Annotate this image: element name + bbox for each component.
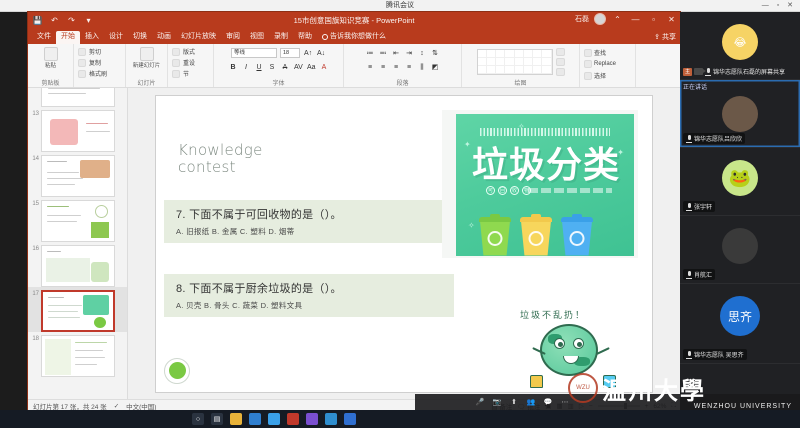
thumbnail-preview[interactable] xyxy=(41,200,115,242)
select-label: 选择 xyxy=(594,71,606,80)
participant-name: 锦华志愿队吕欣欣 xyxy=(694,134,742,143)
paragraph-row-1[interactable]: ≔ ≕ ⇤ ⇥ ↕ ⇅ xyxy=(365,48,440,58)
replace-label: Replace xyxy=(594,61,616,67)
paste-button[interactable]: 粘贴 xyxy=(41,47,61,69)
participant-tile-4[interactable]: 思齐 锦华志愿队 吴思齐 xyxy=(680,284,800,364)
close-button[interactable]: ✕ xyxy=(665,15,678,24)
university-seal-icon: WZU xyxy=(568,373,598,403)
search-icon xyxy=(584,49,592,57)
minimize-button[interactable]: — xyxy=(629,15,642,24)
ribbon-group-clipboard-cmds: 剪切 复制 格式刷 xyxy=(74,44,126,87)
poster-title: 垃圾分类 xyxy=(466,136,626,188)
heading-line-1: Knowledge xyxy=(178,142,263,159)
drawing-group-label: 绘图 xyxy=(462,78,579,87)
justify-icon[interactable]: ≡ xyxy=(404,62,414,72)
bin-kitchen xyxy=(519,214,553,256)
avatar: 思齐 xyxy=(720,296,760,336)
participant-1-name-chip: 锦华志愿队吕欣欣 xyxy=(683,133,745,144)
align-left-icon[interactable]: ≡ xyxy=(365,62,375,72)
select-icon xyxy=(584,72,592,80)
watermark-chinese: 温州大學 xyxy=(602,371,706,406)
font-name-input[interactable]: 等线 xyxy=(231,48,277,58)
ribbon-group-drawing: 绘图 xyxy=(462,44,580,87)
chip-1: 可 xyxy=(486,186,495,195)
shapes-gallery[interactable] xyxy=(477,48,565,76)
paragraph-row-2[interactable]: ≡ ≡ ≡ ≡ ⫼ ◩ xyxy=(365,62,440,72)
shape-fill-icon[interactable] xyxy=(556,68,565,76)
ppt-titlebar-right: 石磊 ⌃ — ▫ ✕ xyxy=(575,13,678,25)
avatar xyxy=(722,96,758,132)
slide-heading: Knowledge contest xyxy=(178,142,263,176)
tab-transitions[interactable]: 切换 xyxy=(128,31,152,44)
participant-name: 锦华志愿队石磊的屏幕共享 xyxy=(713,67,785,76)
poster-image[interactable]: ✦ ✧ ✦ ✧ 垃圾分类 可 回 收 物 xyxy=(442,110,638,258)
ribbon-group-paragraph: ≔ ≕ ⇤ ⇥ ↕ ⇅ ≡ ≡ ≡ ≡ ⫼ ◩ 段落 xyxy=(344,44,462,87)
section-icon xyxy=(172,70,180,78)
bin-other xyxy=(560,214,594,256)
font-row-2[interactable]: B I U S A AV Aa A xyxy=(228,62,329,72)
ribbon-group-slides-cmds: 版式 重设 节 xyxy=(168,44,214,87)
mail-icon[interactable] xyxy=(268,413,280,425)
participant-tile-0[interactable]: 😂 主 锦华志愿队石磊的屏幕共享 xyxy=(680,12,800,80)
thumbnail-14[interactable]: 14 xyxy=(28,152,127,197)
reset-row[interactable]: 重设 xyxy=(172,58,195,67)
decrease-indent-icon[interactable]: ⇤ xyxy=(391,48,401,58)
increase-indent-icon[interactable]: ⇥ xyxy=(404,48,414,58)
thumbnail-preview[interactable] xyxy=(41,335,115,377)
cut-row[interactable]: 剪切 xyxy=(78,47,101,56)
character-spacing-icon[interactable]: AV xyxy=(293,62,303,72)
mic-muted-icon xyxy=(686,135,692,143)
ribbon-group-editing: 查找 Replace 选择 xyxy=(580,44,636,87)
chip-2: 回 xyxy=(498,186,507,195)
meeting-window-controls[interactable]: — ▫ ✕ xyxy=(762,0,796,12)
reset-label: 重设 xyxy=(183,58,195,67)
copy-row[interactable]: 复制 xyxy=(78,58,101,67)
ribbon-tabs[interactable]: 文件 开始 插入 设计 切换 动画 幻灯片放映 审阅 视图 录制 帮助 告诉我你… xyxy=(28,30,680,44)
ppt-body: 12 13 xyxy=(28,88,680,399)
align-right-icon[interactable]: ≡ xyxy=(391,62,401,72)
paste-icon xyxy=(44,47,58,61)
find-label: 查找 xyxy=(594,48,606,57)
participant-tile-1[interactable]: 正在讲话 锦华志愿队吕欣欣 xyxy=(680,80,800,148)
thumbnail-preview-selected[interactable] xyxy=(41,290,115,332)
numbering-icon[interactable]: ≕ xyxy=(378,48,388,58)
select-row[interactable]: 选择 xyxy=(584,71,606,80)
members-icon[interactable]: 👥 xyxy=(526,397,536,407)
participant-2-name-chip: 张宇轩 xyxy=(683,201,715,212)
participant-tile-2[interactable]: 🐸 张宇轩 xyxy=(680,148,800,216)
new-slide-icon xyxy=(140,47,154,61)
cartoon-bin-yellow xyxy=(530,375,543,388)
sparkle-icon: ✧ xyxy=(518,122,525,131)
logo-circle xyxy=(169,362,186,379)
mic-muted-icon xyxy=(686,351,692,359)
thumbnail-16[interactable]: 16 xyxy=(28,242,127,287)
camera-icon xyxy=(694,68,703,75)
ppt-user-name[interactable]: 石磊 xyxy=(575,14,589,24)
slides-group-label: 幻灯片 xyxy=(126,78,167,87)
align-center-icon[interactable]: ≡ xyxy=(378,62,388,72)
tell-me-label: 告诉我你想做什么 xyxy=(330,32,386,42)
thumbnail-number: 16 xyxy=(30,245,39,252)
layout-label: 版式 xyxy=(183,47,195,56)
participant-name: 锦华志愿队 吴思齐 xyxy=(694,350,744,359)
increase-font-icon[interactable]: A↑ xyxy=(303,48,313,58)
replace-row[interactable]: Replace xyxy=(584,60,616,68)
section-label: 节 xyxy=(183,69,189,78)
pdf-icon[interactable] xyxy=(287,413,299,425)
thumbnail-number: 17 xyxy=(30,290,39,297)
screen-root: 腾讯会议 — ▫ ✕ 💾 ↶ ↷ ▾ 15市创意国旗知识竞赛 - PowerPo… xyxy=(0,0,800,428)
poster-card: ✦ ✧ ✦ ✧ 垃圾分类 可 回 收 物 xyxy=(456,114,634,256)
eye-right xyxy=(573,338,584,349)
participant-name: 张宇轩 xyxy=(694,202,712,211)
avatar: 🐸 xyxy=(722,160,758,196)
slide-counter: 幻灯片第 17 张，共 24 张 xyxy=(33,401,107,410)
cartoon-caption: 垃圾不乱扔！ xyxy=(520,308,586,321)
ribbon-group-clipboard: 粘贴 剪贴板 xyxy=(28,44,74,87)
tab-animations[interactable]: 动画 xyxy=(152,31,176,44)
onenote-icon[interactable] xyxy=(306,413,318,425)
tab-file[interactable]: 文件 xyxy=(32,31,56,44)
ribbon: 粘贴 剪贴板 剪切 复制 格式刷 xyxy=(28,44,680,88)
strikethrough-icon[interactable]: A xyxy=(280,62,290,72)
avatar: 😂 xyxy=(722,24,758,60)
text-direction-icon[interactable]: ⇅ xyxy=(430,48,440,58)
question-8-options: A. 贝壳 B. 骨头 C. 蔬菜 D. 塑料文具 xyxy=(164,298,454,317)
ppt-user-avatar[interactable] xyxy=(594,13,606,25)
reset-icon xyxy=(172,59,180,67)
taskbar-icons[interactable]: ○ ▤ xyxy=(192,413,356,425)
ppt-titlebar: 💾 ↶ ↷ ▾ 15市创意国旗知识竞赛 - PowerPoint 石磊 ⌃ — … xyxy=(28,12,680,30)
participants-rail[interactable]: 😂 主 锦华志愿队石磊的屏幕共享 正在讲话 锦华志愿队吕欣欣 🐸 xyxy=(680,12,800,410)
participant-3-name-chip: 肖航汇 xyxy=(683,269,715,280)
thumbnail-preview[interactable] xyxy=(41,155,115,197)
cut-label: 剪切 xyxy=(89,47,101,56)
thumbnail-18[interactable]: 18 xyxy=(28,332,127,377)
thumbnail-15[interactable]: 15 xyxy=(28,197,127,242)
mic-muted-icon xyxy=(686,271,692,279)
mic-icon[interactable]: 🎤 xyxy=(475,397,485,407)
thumbnail-number: 14 xyxy=(30,155,39,162)
thumbnail-17[interactable]: 17 xyxy=(28,287,127,332)
slide-logo-badge xyxy=(164,358,190,384)
avatar-initials: 思齐 xyxy=(728,308,752,325)
cut-icon xyxy=(78,48,86,56)
camera-icon[interactable]: 📷 xyxy=(492,397,502,407)
format-painter-icon xyxy=(78,70,86,78)
paste-label: 粘贴 xyxy=(45,61,56,69)
tab-insert[interactable]: 插入 xyxy=(80,31,104,44)
spellcheck-icon[interactable]: ✓ xyxy=(114,402,119,410)
arrange-icon[interactable] xyxy=(556,48,565,56)
convert-smartart-icon[interactable]: ◩ xyxy=(430,62,440,72)
meeting-titlebar: 腾讯会议 — ▫ ✕ xyxy=(0,0,800,12)
section-row[interactable]: 节 xyxy=(172,69,189,78)
avatar xyxy=(722,228,758,264)
question-7-options: A. 旧报纸 B. 金属 C. 塑料 D. 烟蒂 xyxy=(164,224,454,243)
explorer-icon[interactable] xyxy=(230,413,242,425)
taskview-icon[interactable]: ▤ xyxy=(211,413,223,425)
format-painter-row[interactable]: 格式刷 xyxy=(78,69,107,78)
question-8-text: 8. 下面不属于厨余垃圾的是（）。 xyxy=(164,274,454,298)
thumbnail-preview[interactable] xyxy=(41,110,115,152)
italic-icon[interactable]: I xyxy=(241,62,251,72)
copy-icon xyxy=(78,59,86,67)
thumbnail-number: 18 xyxy=(30,335,39,342)
font-color-icon[interactable]: A xyxy=(319,62,329,72)
windows-taskbar[interactable]: ○ ▤ xyxy=(0,410,800,428)
thumbnail-number: 15 xyxy=(30,200,39,207)
tab-home[interactable]: 开始 xyxy=(56,31,80,44)
replace-icon xyxy=(584,60,592,68)
question-8-block[interactable]: 8. 下面不属于厨余垃圾的是（）。 A. 贝壳 B. 骨头 C. 蔬菜 D. 塑… xyxy=(164,274,454,317)
paragraph-group-label: 段落 xyxy=(344,78,461,87)
shapes-box[interactable] xyxy=(477,49,553,75)
thumbnail-number: 13 xyxy=(30,110,39,117)
speaking-indicator: 正在讲话 xyxy=(683,82,707,91)
line-spacing-icon[interactable]: ↕ xyxy=(417,48,427,58)
tab-view[interactable]: 视图 xyxy=(245,31,269,44)
watermark-english: WENZHOU UNIVERSITY xyxy=(694,403,792,410)
avatar-emoji: 😂 xyxy=(734,36,747,49)
bold-icon[interactable]: B xyxy=(228,62,238,72)
poster-dot-ornament xyxy=(480,128,610,136)
copy-label: 复制 xyxy=(89,58,101,67)
share-button[interactable]: ⇪ 共享 xyxy=(654,32,676,42)
ribbon-display-options-icon[interactable]: ⌃ xyxy=(611,15,624,24)
format-painter-label: 格式刷 xyxy=(89,69,107,78)
change-case-icon[interactable]: Aa xyxy=(306,62,316,72)
meeting-title: 腾讯会议 xyxy=(386,2,414,9)
thumbnail-preview[interactable] xyxy=(41,88,115,107)
tab-slideshow[interactable]: 幻灯片放映 xyxy=(176,31,221,44)
thumbnail-13[interactable]: 13 xyxy=(28,107,127,152)
meeting-icon[interactable] xyxy=(344,413,356,425)
university-watermark: WZU 温州大學 WENZHOU UNIVERSITY xyxy=(568,366,798,410)
poster-subtitle-line xyxy=(528,188,612,193)
decrease-font-icon[interactable]: A↓ xyxy=(316,48,326,58)
poster-bins xyxy=(478,214,594,256)
eye-left xyxy=(554,338,565,349)
font-group-label: 字体 xyxy=(214,78,343,87)
slide-thumbnail-pane[interactable]: 12 13 xyxy=(28,88,128,399)
maximize-button[interactable]: ▫ xyxy=(647,15,660,24)
ribbon-group-slides: 新建幻灯片 幻灯片 xyxy=(126,44,168,87)
new-slide-label: 新建幻灯片 xyxy=(133,61,161,69)
clipboard-group-label: 剪贴板 xyxy=(28,78,73,87)
question-7-text: 7. 下面不属于可回收物的是（）。 xyxy=(164,200,454,224)
avatar-emoji: 🐸 xyxy=(729,168,751,189)
share-label: 共享 xyxy=(662,32,676,42)
sparkle-icon: ✧ xyxy=(468,221,475,230)
layout-row[interactable]: 版式 xyxy=(172,47,195,56)
shadow-icon[interactable]: S xyxy=(267,62,277,72)
lightbulb-icon xyxy=(322,34,328,40)
chip-3: 收 xyxy=(510,186,519,195)
powerpoint-window: 💾 ↶ ↷ ▾ 15市创意国旗知识竞赛 - PowerPoint 石磊 ⌃ — … xyxy=(28,12,680,410)
find-row[interactable]: 查找 xyxy=(584,48,606,57)
font-size-input[interactable]: 18 xyxy=(280,48,300,58)
tab-tell-me[interactable]: 告诉我你想做什么 xyxy=(317,31,391,44)
host-badge: 主 xyxy=(683,68,692,76)
columns-icon[interactable]: ⫼ xyxy=(417,62,427,72)
share-icon[interactable]: ⬆ xyxy=(509,397,519,407)
tab-review[interactable]: 审阅 xyxy=(221,31,245,44)
share-icon: ⇪ xyxy=(654,33,660,41)
language-indicator[interactable]: 中文(中国) xyxy=(126,401,156,410)
tab-record[interactable]: 录制 xyxy=(269,31,293,44)
slide-stage: Knowledge contest 7. 下面不属于可回收物的是（）。 A. 旧… xyxy=(128,88,680,399)
tab-help[interactable]: 帮助 xyxy=(293,31,317,44)
participant-tile-3[interactable]: 肖航汇 xyxy=(680,216,800,284)
new-slide-button[interactable]: 新建幻灯片 xyxy=(130,47,164,69)
mic-muted-icon xyxy=(686,203,692,211)
participant-name: 肖航汇 xyxy=(694,270,712,279)
participant-0-badges: 主 锦华志愿队石磊的屏幕共享 xyxy=(683,67,785,76)
current-slide[interactable]: Knowledge contest 7. 下面不属于可回收物的是（）。 A. 旧… xyxy=(156,96,652,392)
underline-icon[interactable]: U xyxy=(254,62,264,72)
mic-icon xyxy=(705,68,711,76)
thumbnail-preview[interactable] xyxy=(41,245,115,287)
store-icon[interactable] xyxy=(325,413,337,425)
chat-icon[interactable]: 💬 xyxy=(543,397,553,407)
question-7-block[interactable]: 7. 下面不属于可回收物的是（）。 A. 旧报纸 B. 金属 C. 塑料 D. … xyxy=(164,200,454,243)
heading-line-2: contest xyxy=(178,159,263,176)
bin-recyclable xyxy=(478,214,512,256)
poster-subtitle-chips: 可 回 收 物 xyxy=(486,186,531,195)
font-row-1[interactable]: 等线 18 A↑ A↓ xyxy=(231,48,326,58)
ribbon-group-font: 等线 18 A↑ A↓ B I U S A AV Aa A 字体 xyxy=(214,44,344,87)
quick-styles-icon[interactable] xyxy=(556,58,565,66)
bullets-icon[interactable]: ≔ xyxy=(365,48,375,58)
layout-icon xyxy=(172,48,180,56)
browser-icon[interactable] xyxy=(249,413,261,425)
participant-4-name-chip: 锦华志愿队 吴思齐 xyxy=(683,349,747,360)
tab-design[interactable]: 设计 xyxy=(104,31,128,44)
search-icon[interactable]: ○ xyxy=(192,413,204,425)
thumbnail-12[interactable]: 12 xyxy=(28,88,127,107)
